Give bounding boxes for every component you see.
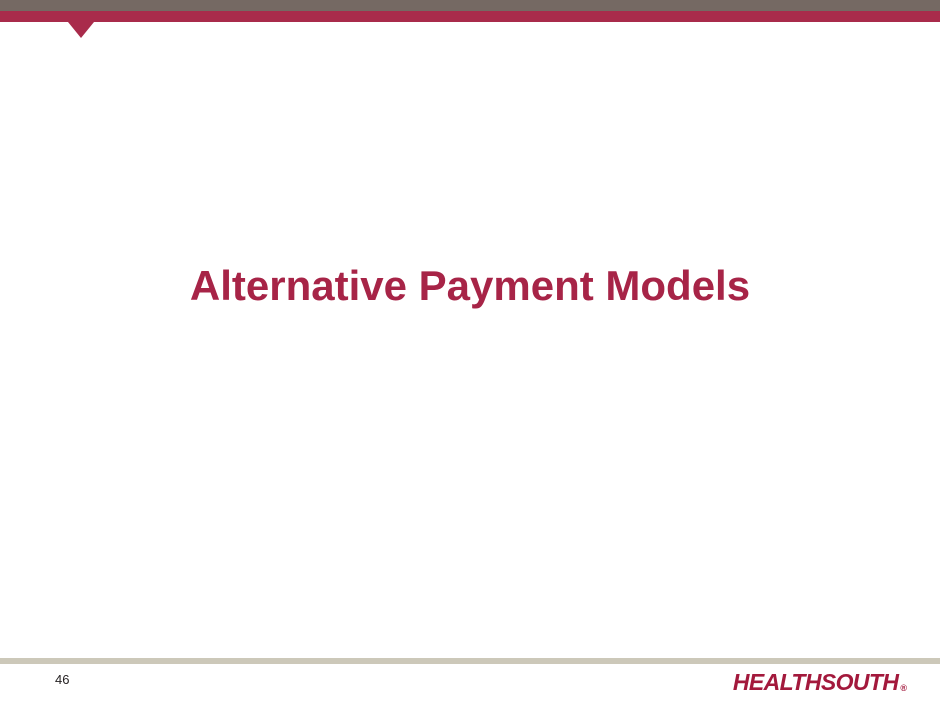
page-number: 46 <box>55 673 69 686</box>
footer-divider <box>0 658 940 664</box>
chevron-down-icon <box>68 22 94 38</box>
brand-logo-wordmark: HEALTHSOUTH <box>733 671 898 694</box>
slide-canvas: Alternative Payment Models 46 HEALTHSOUT… <box>0 0 940 705</box>
brand-logo: HEALTHSOUTH ® <box>733 671 907 694</box>
header-bar-crimson <box>0 11 940 22</box>
page-title: Alternative Payment Models <box>190 262 750 310</box>
title-area: Alternative Payment Models <box>0 262 940 310</box>
registered-trademark-icon: ® <box>900 684 907 693</box>
header-bar-taupe <box>0 0 940 11</box>
